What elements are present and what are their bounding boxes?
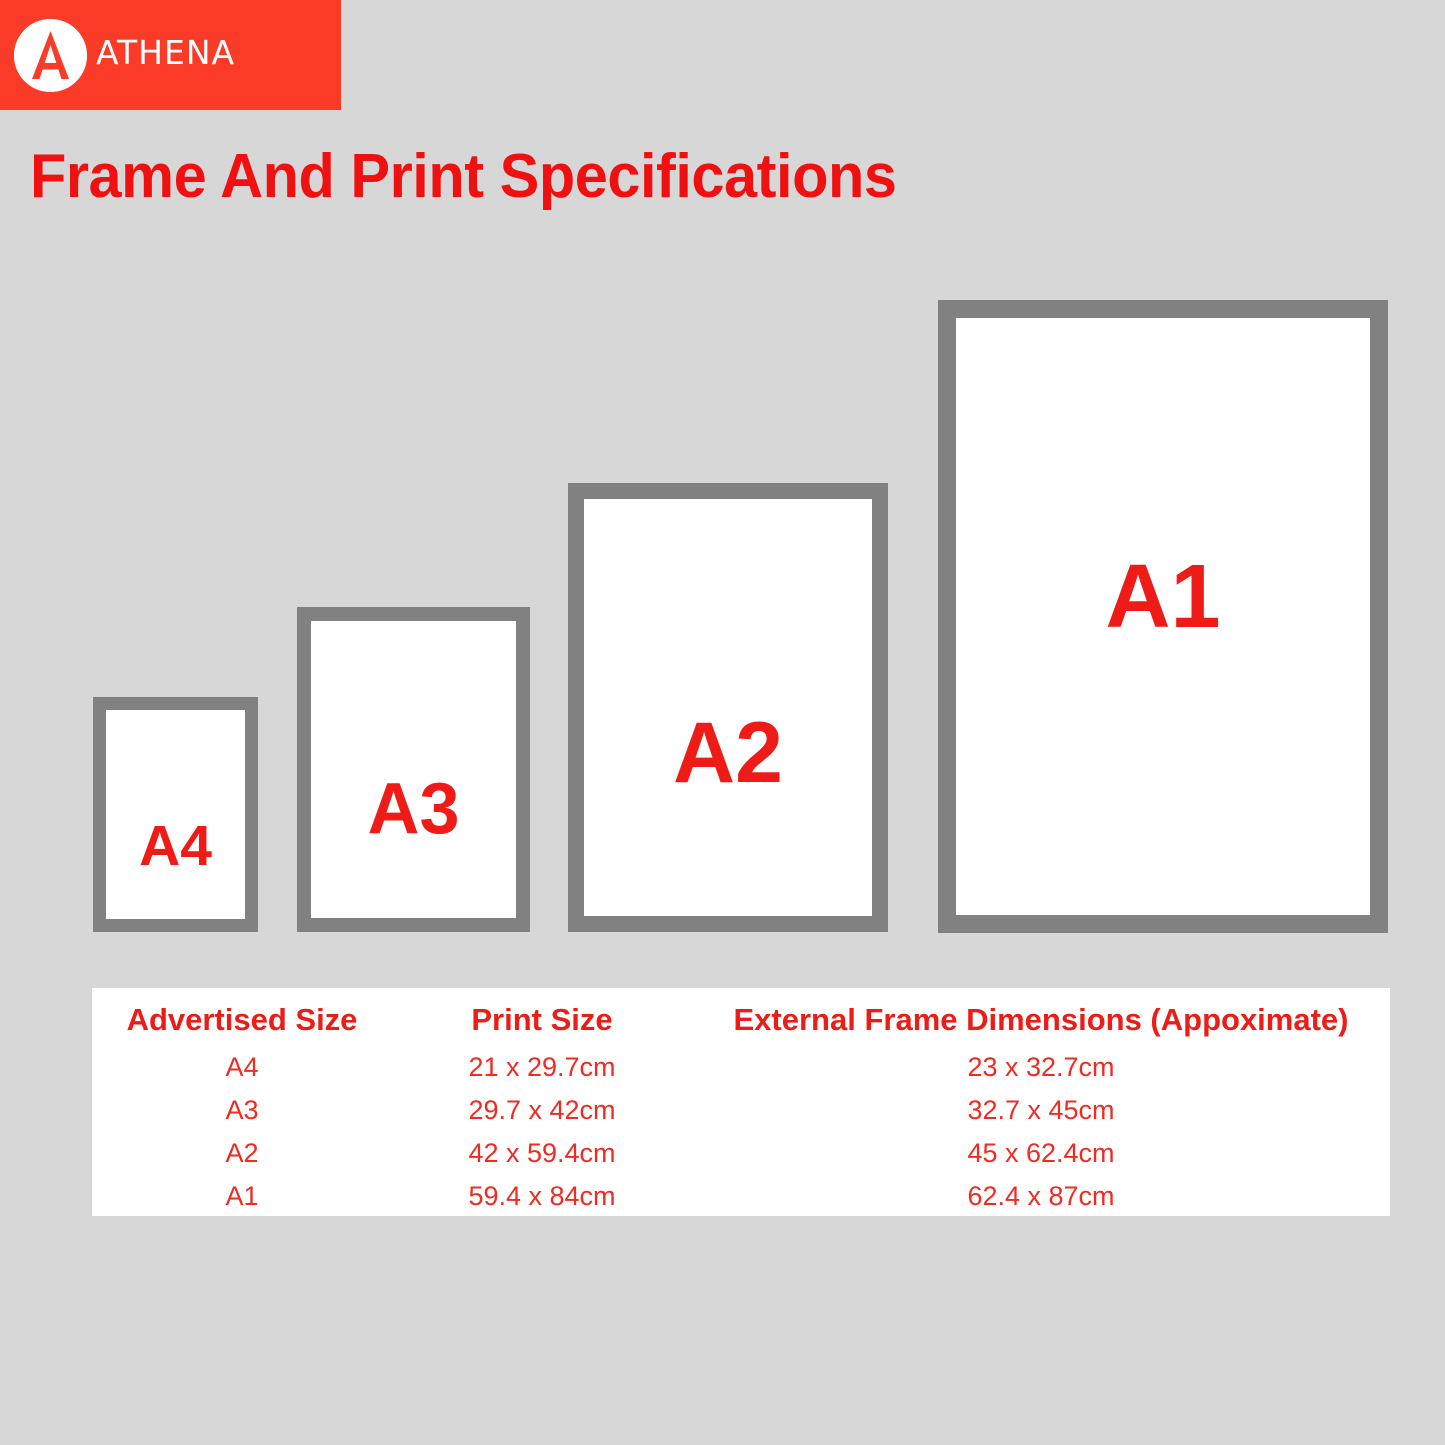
table-header-advertised-size: Advertised Size (92, 988, 392, 1046)
frame-label-a4: A4 (139, 818, 212, 875)
table-row: A3 29.7 x 42cm 32.7 x 45cm (92, 1089, 1390, 1132)
table-row: A1 59.4 x 84cm 62.4 x 87cm (92, 1175, 1390, 1218)
frame-spec-table: Advertised Size Print Size External Fram… (92, 988, 1390, 1218)
cell-external-frame: 62.4 x 87cm (692, 1175, 1390, 1218)
frame-swatch-a4: A4 (93, 697, 258, 932)
cell-external-frame: 23 x 32.7cm (692, 1046, 1390, 1089)
cell-print-size: 59.4 x 84cm (392, 1175, 692, 1218)
table-header-print-size: Print Size (392, 988, 692, 1046)
frame-label-a1: A1 (1105, 552, 1220, 642)
cell-external-frame: 32.7 x 45cm (692, 1089, 1390, 1132)
frame-label-a2: A2 (673, 710, 783, 796)
frame-label-a3: A3 (367, 773, 459, 845)
cell-advertised-size: A2 (92, 1132, 392, 1175)
cell-print-size: 21 x 29.7cm (392, 1046, 692, 1089)
frame-swatch-a2: A2 (568, 483, 888, 932)
cell-print-size: 42 x 59.4cm (392, 1132, 692, 1175)
frame-swatch-a3: A3 (297, 607, 530, 932)
frame-size-comparison-diagram: A4 A3 A2 A1 (0, 0, 1445, 960)
table-row: A4 21 x 29.7cm 23 x 32.7cm (92, 1046, 1390, 1089)
cell-print-size: 29.7 x 42cm (392, 1089, 692, 1132)
table-row: A2 42 x 59.4cm 45 x 62.4cm (92, 1132, 1390, 1175)
frame-swatch-a1: A1 (938, 300, 1388, 933)
spec-table-panel: Advertised Size Print Size External Fram… (92, 988, 1390, 1216)
cell-advertised-size: A4 (92, 1046, 392, 1089)
cell-advertised-size: A1 (92, 1175, 392, 1218)
cell-external-frame: 45 x 62.4cm (692, 1132, 1390, 1175)
cell-advertised-size: A3 (92, 1089, 392, 1132)
table-header-row: Advertised Size Print Size External Fram… (92, 988, 1390, 1046)
table-header-external-frame: External Frame Dimensions (Appoximate) (692, 988, 1390, 1046)
